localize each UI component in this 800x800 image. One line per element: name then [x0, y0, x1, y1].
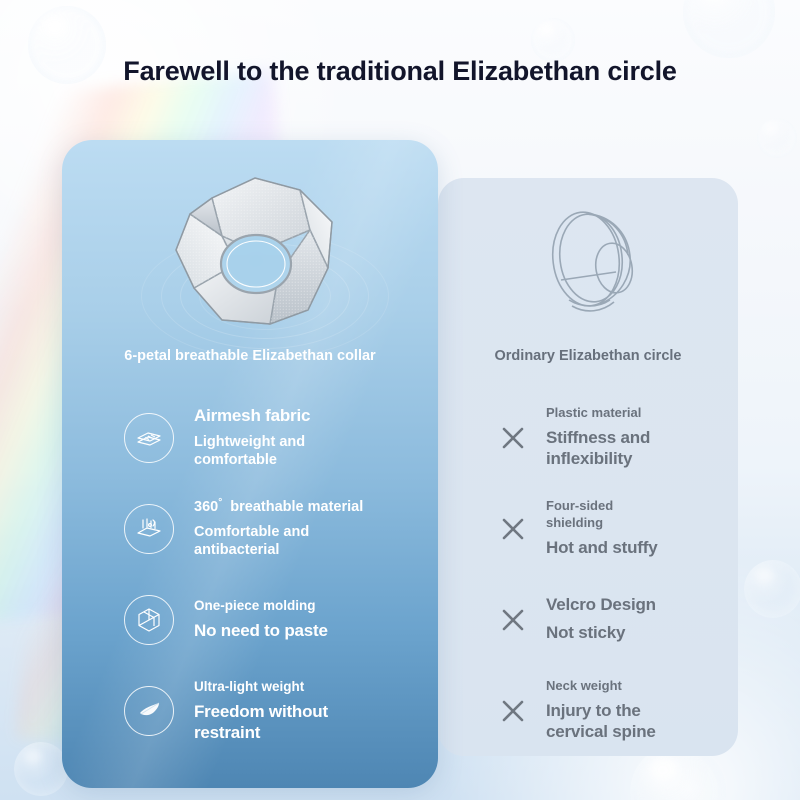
feature-heading: One-piece molding — [194, 597, 328, 614]
con-item: Plastic material Stiffness and inflexibi… — [498, 392, 748, 483]
feature-heading: Ultra-light weight — [194, 678, 354, 695]
six-petal-mesh-collar-photo — [150, 164, 360, 344]
con-item: Velcro Design Not sticky — [498, 574, 748, 665]
ordinary-cone-collar-lineart — [520, 188, 700, 330]
feature-heading-tail: breathable material — [230, 499, 363, 515]
one-piece-cube-icon — [124, 595, 174, 645]
feather-icon — [124, 686, 174, 736]
con-sub: Hot and stuffy — [546, 538, 658, 559]
feature-item: 360° breathable material Comfortable and… — [124, 483, 424, 574]
breathable-airflow-icon — [124, 504, 174, 554]
feature-item: Ultra-light weight Freedom without restr… — [124, 665, 424, 756]
x-mark-icon — [498, 423, 528, 453]
bubble-icon — [744, 560, 800, 618]
con-sub: Injury to the cervical spine — [546, 701, 696, 742]
cons-list: Plastic material Stiffness and inflexibi… — [498, 392, 748, 756]
con-sub: Not sticky — [546, 623, 656, 644]
bubble-icon — [757, 118, 797, 158]
x-mark-icon — [498, 605, 528, 635]
feature-item: Airmesh fabric Lightweight and comfortab… — [124, 392, 424, 483]
infographic-page: Farewell to the traditional Elizabethan … — [0, 0, 800, 800]
con-sub: Stiffness and inflexibility — [546, 428, 716, 469]
feature-heading-value: 360 — [194, 499, 218, 515]
bubble-icon — [14, 742, 68, 796]
feature-heading: 360° breathable material — [194, 497, 363, 516]
con-item: Neck weight Injury to the cervical spine — [498, 665, 748, 756]
feature-heading: Airmesh fabric — [194, 406, 344, 426]
product-photo-area — [62, 158, 438, 358]
feature-sub: Comfortable and antibacterial — [194, 523, 344, 559]
x-mark-icon — [498, 514, 528, 544]
feature-item: One-piece molding No need to paste — [124, 574, 424, 665]
feature-sub: No need to paste — [194, 621, 328, 641]
x-mark-icon — [498, 696, 528, 726]
bubble-icon — [683, 0, 775, 58]
con-heading: Plastic material — [546, 405, 716, 421]
fabric-layers-icon — [124, 413, 174, 463]
con-heading: Velcro Design — [546, 595, 656, 616]
con-item: Four-sided shielding Hot and stuffy — [498, 483, 748, 574]
ordinary-collar-caption: Ordinary Elizabethan circle — [438, 348, 738, 364]
six-petal-collar-caption: 6-petal breathable Elizabethan collar — [62, 348, 438, 364]
features-list: Airmesh fabric Lightweight and comfortab… — [124, 392, 424, 756]
page-title: Farewell to the traditional Elizabethan … — [0, 56, 800, 87]
con-heading: Neck weight — [546, 678, 696, 694]
degree-symbol: ° — [218, 497, 222, 508]
feature-sub: Lightweight and comfortable — [194, 433, 344, 469]
feature-sub: Freedom without restraint — [194, 702, 354, 743]
con-heading: Four-sided shielding — [546, 498, 658, 531]
